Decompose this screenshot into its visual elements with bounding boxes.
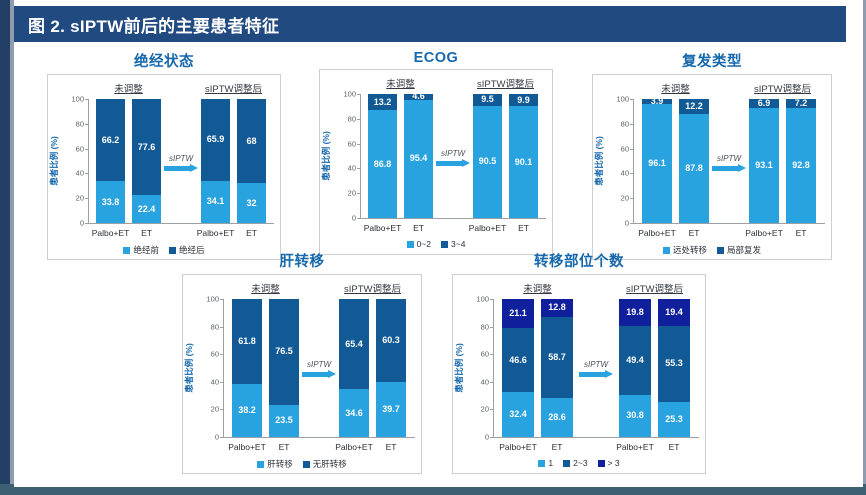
y-tick-mark	[85, 149, 88, 150]
bar-segment-value: 61.8	[238, 337, 256, 346]
bar-segment: 86.8	[368, 110, 397, 218]
x-tick-label: Palbo+ET	[638, 228, 676, 238]
y-tick-label: 0	[338, 214, 356, 223]
bar-segment: 6.9	[749, 99, 779, 108]
y-tick-mark	[357, 144, 360, 145]
frame-left-band	[0, 0, 10, 487]
bar-segment-value: 32	[246, 199, 256, 208]
bar-segment-value: 46.6	[509, 356, 527, 365]
arrow-shaft	[302, 372, 328, 377]
group-label-unadjusted: 未调整	[114, 81, 143, 95]
bar-segment: 21.1	[502, 299, 534, 328]
bar-segment-value: 76.5	[275, 347, 293, 356]
stacked-bar: 34.665.4	[339, 299, 369, 437]
y-tick-mark	[357, 193, 360, 194]
x-tick-label: ET	[413, 223, 424, 233]
stacked-bar: 22.477.6	[132, 99, 161, 223]
legend-item-label: 0~2	[417, 239, 431, 249]
arrow-head	[738, 164, 746, 172]
y-tick-label: 100	[201, 295, 219, 304]
siptw-arrow-group: sIPTW	[712, 154, 746, 172]
bar-segment: 25.3	[658, 402, 690, 437]
y-tick-mark	[220, 354, 223, 355]
group-label-unadjusted: 未调整	[251, 281, 280, 295]
y-axis-label: 患者比例 (%)	[593, 126, 605, 196]
bar-segment: 33.8	[96, 181, 125, 223]
y-tick-label: 40	[66, 169, 84, 178]
y-tick-label: 100	[66, 95, 84, 104]
arrow-shaft	[579, 372, 605, 377]
y-axis-label: 患者比例 (%)	[183, 333, 195, 403]
chart-legend-liver-metastasis: 肝转移无肝转移	[183, 458, 421, 470]
bar-segment: 76.5	[269, 299, 299, 405]
chart-legend-ecog: 0~23~4	[320, 239, 552, 249]
stacked-bar: 96.13.9	[642, 99, 672, 223]
y-tick-mark	[220, 327, 223, 328]
bar-segment: 19.4	[658, 299, 690, 326]
page-title: 图 2. sIPTW前后的主要患者特征	[14, 12, 279, 37]
siptw-arrow-group: sIPTW	[302, 360, 336, 378]
bar-segment-value: 39.7	[382, 405, 400, 414]
chart-menopausal-status: 绝经状态020406080100患者比例 (%)未调整sIPTW调整后33.86…	[47, 50, 281, 260]
y-tick-mark	[85, 173, 88, 174]
bar-segment-value: 33.8	[102, 198, 120, 207]
stacked-bar: 90.19.9	[509, 94, 538, 218]
legend-swatch-icon	[538, 460, 545, 467]
chart-title-liver-metastasis: 肝转移	[182, 250, 422, 271]
chart-metastatic-sites-count: 转移部位个数020406080100患者比例 (%)未调整sIPTW调整后32.…	[452, 250, 706, 474]
x-axis-line	[633, 223, 825, 224]
x-tick-label: Palbo+ET	[335, 442, 373, 452]
x-tick-label: Palbo+ET	[745, 228, 783, 238]
y-axis-label: 患者比例 (%)	[320, 121, 332, 191]
legend-item-label: 局部复发	[727, 244, 761, 256]
y-tick-label: 20	[66, 194, 84, 203]
siptw-arrow-group: sIPTW	[579, 360, 613, 378]
bar-segment-value: 65.9	[207, 135, 225, 144]
arrow-head	[462, 159, 470, 167]
y-tick-mark	[85, 198, 88, 199]
bar-segment-value: 30.8	[626, 411, 644, 420]
siptw-arrow-icon	[712, 164, 746, 172]
legend-item: 0~2	[407, 239, 431, 249]
siptw-arrow-icon	[436, 159, 470, 167]
y-tick-label: 60	[66, 144, 84, 153]
bar-segment: 3.9	[642, 99, 672, 104]
bar-segment: 38.2	[232, 384, 262, 437]
bar-segment: 22.4	[132, 195, 161, 223]
y-tick-label: 20	[471, 405, 489, 414]
y-tick-label: 40	[201, 377, 219, 386]
x-tick-label: Palbo+ET	[616, 442, 654, 452]
stacked-bar: 86.813.2	[368, 94, 397, 218]
arrow-head	[605, 370, 613, 378]
bar-segment: 77.6	[132, 99, 161, 195]
arrow-head	[190, 164, 198, 172]
group-label-unadjusted: 未调整	[386, 76, 415, 90]
bar-segment-value: 58.7	[548, 353, 566, 362]
legend-item: 2~3	[563, 458, 587, 468]
y-tick-label: 100	[611, 95, 629, 104]
bar-segment-value: 66.2	[102, 136, 120, 145]
chart-panel-metastatic-sites-count: 020406080100患者比例 (%)未调整sIPTW调整后32.446.62…	[452, 274, 706, 474]
chart-title-ecog: ECOG	[319, 50, 553, 66]
legend-item-label: 1	[548, 458, 553, 468]
bar-segment-value: 93.1	[755, 161, 773, 170]
group-label-adjusted: sIPTW调整后	[754, 81, 811, 95]
figure-header: 图 2. sIPTW前后的主要患者特征	[14, 6, 846, 42]
bar-segment: 90.5	[473, 106, 502, 218]
group-label-adjusted: sIPTW调整后	[205, 81, 262, 95]
y-axis-line	[88, 99, 89, 223]
y-tick-label: 60	[611, 144, 629, 153]
y-axis-line	[493, 299, 494, 437]
chart-panel-liver-metastasis: 020406080100患者比例 (%)未调整sIPTW调整后38.261.8P…	[182, 274, 422, 474]
y-tick-mark	[630, 124, 633, 125]
chart-ecog: ECOG020406080100患者比例 (%)未调整sIPTW调整后86.81…	[319, 50, 553, 255]
bar-segment: 87.8	[679, 114, 709, 223]
group-label-adjusted: sIPTW调整后	[626, 281, 683, 295]
y-tick-mark	[490, 299, 493, 300]
x-tick-label: ET	[279, 442, 290, 452]
legend-swatch-icon	[717, 247, 724, 254]
y-tick-label: 80	[471, 322, 489, 331]
stacked-bar: 92.87.2	[786, 99, 816, 223]
legend-item-label: 3~4	[451, 239, 465, 249]
y-tick-mark	[357, 119, 360, 120]
legend-item: 1	[538, 458, 553, 468]
x-tick-label: ET	[141, 228, 152, 238]
bar-segment-value: 25.3	[665, 415, 683, 424]
stacked-bar: 25.355.319.4	[658, 299, 690, 437]
bar-segment: 34.6	[339, 389, 369, 437]
y-tick-mark	[630, 173, 633, 174]
bar-segment: 92.8	[786, 108, 816, 223]
y-tick-mark	[220, 409, 223, 410]
bar-segment: 30.8	[619, 395, 651, 438]
bar-segment-value: 12.2	[685, 102, 703, 111]
legend-swatch-icon	[563, 460, 570, 467]
y-axis-label: 患者比例 (%)	[48, 126, 60, 196]
legend-item-label: 无肝转移	[313, 458, 347, 470]
bar-segment-value: 86.8	[374, 160, 392, 169]
legend-swatch-icon	[123, 247, 130, 254]
bar-segment-value: 92.8	[792, 161, 810, 170]
x-tick-label: Palbo+ET	[228, 442, 266, 452]
bar-segment: 32.4	[502, 392, 534, 437]
x-tick-label: Palbo+ET	[499, 442, 537, 452]
y-tick-label: 100	[338, 90, 356, 99]
x-tick-label: ET	[552, 442, 563, 452]
x-tick-label: ET	[246, 228, 257, 238]
legend-item-label: 绝经前	[133, 244, 159, 256]
bar-segment-value: 87.8	[685, 164, 703, 173]
stacked-bar: 23.576.5	[269, 299, 299, 437]
y-tick-mark	[220, 382, 223, 383]
x-axis-line	[88, 223, 274, 224]
y-tick-mark	[490, 354, 493, 355]
bar-segment-value: 34.6	[345, 409, 363, 418]
y-tick-mark	[630, 198, 633, 199]
legend-item-label: > 3	[608, 458, 620, 468]
legend-swatch-icon	[257, 461, 264, 468]
bar-segment-value: 3.9	[651, 99, 664, 104]
y-tick-label: 100	[471, 295, 489, 304]
bar-segment-value: 28.6	[548, 413, 566, 422]
y-tick-mark	[630, 223, 633, 224]
y-tick-label: 40	[338, 164, 356, 173]
stacked-bar: 30.849.419.8	[619, 299, 651, 437]
bar-segment-value: 23.5	[275, 416, 293, 425]
arrow-shaft	[712, 166, 738, 171]
y-tick-mark	[85, 99, 88, 100]
y-axis-label: 患者比例 (%)	[453, 333, 465, 403]
y-tick-label: 40	[471, 377, 489, 386]
x-tick-label: Palbo+ET	[364, 223, 402, 233]
chart-title-menopausal-status: 绝经状态	[47, 50, 281, 71]
siptw-arrow-group: sIPTW	[164, 154, 198, 172]
bar-segment-value: 55.3	[665, 359, 683, 368]
bar-segment-value: 34.1	[207, 197, 225, 206]
y-tick-label: 40	[611, 169, 629, 178]
charts-canvas: 绝经状态020406080100患者比例 (%)未调整sIPTW调整后33.86…	[14, 42, 863, 487]
bar-segment: 49.4	[619, 326, 651, 394]
y-tick-mark	[490, 437, 493, 438]
bar-segment: 55.3	[658, 326, 690, 402]
x-axis-line	[223, 437, 415, 438]
legend-item: 绝经前	[123, 244, 159, 256]
bar-segment-value: 9.9	[517, 96, 530, 105]
stacked-bar: 34.165.9	[201, 99, 230, 223]
x-axis-line	[493, 437, 699, 438]
stacked-bar: 3268	[237, 99, 266, 223]
legend-item-label: 2~3	[573, 458, 587, 468]
stacked-bar: 33.866.2	[96, 99, 125, 223]
y-tick-label: 0	[611, 219, 629, 228]
bar-segment: 7.2	[786, 99, 816, 108]
x-axis-line	[360, 218, 546, 219]
bar-segment: 68	[237, 99, 266, 183]
chart-liver-metastasis: 肝转移020406080100患者比例 (%)未调整sIPTW调整后38.261…	[182, 250, 422, 474]
legend-swatch-icon	[441, 241, 448, 248]
y-tick-label: 80	[338, 114, 356, 123]
bar-segment: 4.6	[404, 94, 433, 100]
y-tick-label: 60	[471, 350, 489, 359]
chart-panel-ecog: 020406080100患者比例 (%)未调整sIPTW调整后86.813.2P…	[319, 69, 553, 255]
bar-segment-value: 38.2	[238, 406, 256, 415]
y-axis-line	[223, 299, 224, 437]
bar-segment-value: 7.2	[795, 99, 808, 108]
legend-swatch-icon	[598, 460, 605, 467]
stacked-bar: 90.59.5	[473, 94, 502, 218]
y-tick-mark	[357, 94, 360, 95]
chart-panel-menopausal-status: 020406080100患者比例 (%)未调整sIPTW调整后33.866.2P…	[47, 74, 281, 260]
legend-swatch-icon	[303, 461, 310, 468]
bar-segment-value: 68	[246, 137, 256, 146]
y-tick-label: 60	[201, 350, 219, 359]
x-tick-label: Palbo+ET	[469, 223, 507, 233]
x-tick-label: Palbo+ET	[197, 228, 235, 238]
x-tick-label: ET	[689, 228, 700, 238]
bar-segment: 13.2	[368, 94, 397, 110]
y-tick-label: 60	[338, 139, 356, 148]
y-tick-label: 80	[66, 119, 84, 128]
y-tick-mark	[357, 218, 360, 219]
siptw-arrow-icon	[579, 370, 613, 378]
arrow-shaft	[164, 166, 190, 171]
y-tick-label: 20	[611, 194, 629, 203]
y-tick-label: 20	[338, 189, 356, 198]
y-tick-mark	[85, 223, 88, 224]
y-tick-mark	[630, 149, 633, 150]
siptw-arrow-label: sIPTW	[436, 149, 470, 158]
y-tick-label: 0	[201, 433, 219, 442]
bar-segment-value: 12.8	[548, 303, 566, 312]
y-tick-label: 20	[201, 405, 219, 414]
bar-segment-value: 22.4	[138, 205, 156, 214]
bar-segment: 58.7	[541, 317, 573, 398]
bar-segment-value: 9.5	[481, 95, 494, 104]
y-axis-line	[633, 99, 634, 223]
bar-segment: 90.1	[509, 106, 538, 218]
y-tick-mark	[220, 299, 223, 300]
bar-segment: 9.5	[473, 94, 502, 106]
y-tick-mark	[357, 168, 360, 169]
chart-title-metastatic-sites-count: 转移部位个数	[452, 250, 706, 271]
bar-segment: 96.1	[642, 104, 672, 223]
legend-swatch-icon	[169, 247, 176, 254]
bar-segment: 12.8	[541, 299, 573, 317]
siptw-arrow-label: sIPTW	[164, 154, 198, 163]
bar-segment-value: 13.2	[374, 98, 392, 107]
bar-segment-value: 95.4	[410, 154, 428, 163]
x-tick-label: ET	[518, 223, 529, 233]
bar-segment: 32	[237, 183, 266, 223]
x-tick-label: Palbo+ET	[92, 228, 130, 238]
x-tick-label: ET	[796, 228, 807, 238]
stacked-bar: 93.16.9	[749, 99, 779, 223]
bar-segment-value: 77.6	[138, 143, 156, 152]
bar-segment: 61.8	[232, 299, 262, 384]
bar-segment: 39.7	[376, 382, 406, 437]
legend-item: 局部复发	[717, 244, 761, 256]
bar-segment: 9.9	[509, 94, 538, 106]
stacked-bar: 87.812.2	[679, 99, 709, 223]
bar-segment: 23.5	[269, 405, 299, 437]
y-tick-mark	[630, 99, 633, 100]
bar-segment: 66.2	[96, 99, 125, 181]
bar-segment: 65.9	[201, 99, 230, 181]
bar-segment-value: 19.4	[665, 308, 683, 317]
chart-title-recurrence-type: 复发类型	[592, 50, 832, 71]
figure-page: 图 2. sIPTW前后的主要患者特征 绝经状态020406080100患者比例…	[0, 0, 866, 495]
chart-panel-recurrence-type: 020406080100患者比例 (%)未调整sIPTW调整后96.13.9Pa…	[592, 74, 832, 260]
siptw-arrow-icon	[302, 370, 336, 378]
arrow-head	[328, 370, 336, 378]
y-tick-label: 80	[201, 322, 219, 331]
stacked-bar: 38.261.8	[232, 299, 262, 437]
bar-segment-value: 90.5	[479, 157, 497, 166]
siptw-arrow-label: sIPTW	[579, 360, 613, 369]
bar-segment-value: 32.4	[509, 410, 527, 419]
bar-segment-value: 49.4	[626, 356, 644, 365]
y-tick-mark	[490, 327, 493, 328]
bar-segment: 65.4	[339, 299, 369, 389]
chart-recurrence-type: 复发类型020406080100患者比例 (%)未调整sIPTW调整后96.13…	[592, 50, 832, 260]
bar-segment: 60.3	[376, 299, 406, 382]
bar-segment: 34.1	[201, 181, 230, 223]
siptw-arrow-label: sIPTW	[302, 360, 336, 369]
y-tick-label: 0	[66, 219, 84, 228]
bar-segment-value: 6.9	[758, 99, 771, 108]
legend-item: 无肝转移	[303, 458, 347, 470]
bar-segment-value: 19.8	[626, 308, 644, 317]
bar-segment-value: 96.1	[648, 159, 666, 168]
x-tick-label: ET	[386, 442, 397, 452]
siptw-arrow-icon	[164, 164, 198, 172]
y-axis-line	[360, 94, 361, 218]
arrow-shaft	[436, 161, 462, 166]
y-tick-mark	[490, 409, 493, 410]
stacked-bar: 28.658.712.8	[541, 299, 573, 437]
bar-segment: 95.4	[404, 100, 433, 218]
x-tick-label: ET	[669, 442, 680, 452]
bar-segment: 93.1	[749, 108, 779, 223]
siptw-arrow-group: sIPTW	[436, 149, 470, 167]
group-label-unadjusted: 未调整	[523, 281, 552, 295]
group-label-adjusted: sIPTW调整后	[477, 76, 534, 90]
y-tick-label: 80	[611, 119, 629, 128]
bar-segment-value: 21.1	[509, 309, 527, 318]
legend-item: 3~4	[441, 239, 465, 249]
y-tick-mark	[220, 437, 223, 438]
bar-segment-value: 60.3	[382, 336, 400, 345]
legend-item: > 3	[598, 458, 620, 468]
siptw-arrow-label: sIPTW	[712, 154, 746, 163]
y-tick-mark	[490, 382, 493, 383]
group-label-unadjusted: 未调整	[661, 81, 690, 95]
stacked-bar: 32.446.621.1	[502, 299, 534, 437]
legend-swatch-icon	[407, 241, 414, 248]
chart-legend-metastatic-sites-count: 12~3> 3	[453, 458, 705, 468]
bar-segment: 19.8	[619, 299, 651, 326]
y-tick-mark	[85, 124, 88, 125]
bar-segment-value: 4.6	[412, 94, 425, 100]
bar-segment-value: 90.1	[515, 158, 533, 167]
bar-segment: 28.6	[541, 398, 573, 437]
legend-item: 肝转移	[257, 458, 293, 470]
y-tick-label: 0	[471, 433, 489, 442]
stacked-bar: 39.760.3	[376, 299, 406, 437]
group-label-adjusted: sIPTW调整后	[344, 281, 401, 295]
bar-segment-value: 65.4	[345, 340, 363, 349]
stacked-bar: 95.44.6	[404, 94, 433, 218]
bar-segment: 12.2	[679, 99, 709, 114]
bar-segment: 46.6	[502, 328, 534, 392]
legend-item-label: 肝转移	[267, 458, 293, 470]
